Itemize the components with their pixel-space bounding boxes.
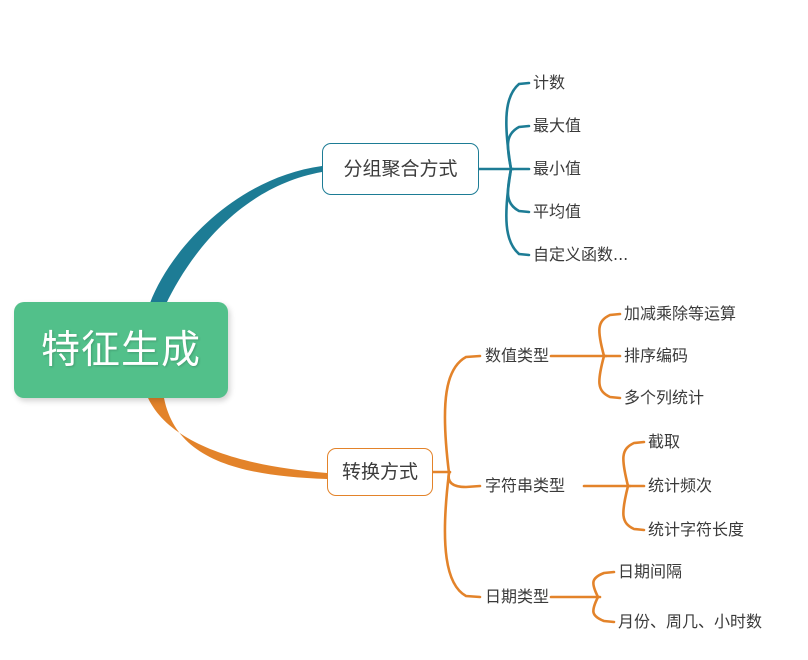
mindmap-nodes: 特征生成 分组聚合方式 转换方式 计数 最大值 最小值 平均值 自定义函数...… [0, 0, 808, 660]
branch-node-grouping[interactable]: 分组聚合方式 [322, 143, 479, 195]
leaf-custom-func[interactable]: 自定义函数... [533, 247, 628, 263]
branch-node-grouping-label: 分组聚合方式 [343, 160, 457, 179]
leaf-date-interval[interactable]: 日期间隔 [618, 564, 682, 580]
leaf-count[interactable]: 计数 [533, 75, 565, 91]
mindmap-canvas: 特征生成 分组聚合方式 转换方式 计数 最大值 最小值 平均值 自定义函数...… [0, 0, 808, 660]
leaf-ordinal-encoding[interactable]: 排序编码 [624, 348, 688, 364]
branch-node-transform[interactable]: 转换方式 [327, 448, 433, 496]
branch-node-transform-label: 转换方式 [342, 463, 418, 482]
leaf-max[interactable]: 最大值 [533, 118, 581, 134]
leaf-substring[interactable]: 截取 [648, 434, 680, 450]
leaf-freq-count[interactable]: 统计频次 [648, 478, 712, 494]
group-date[interactable]: 日期类型 [485, 589, 549, 605]
leaf-mean[interactable]: 平均值 [533, 204, 581, 220]
group-string[interactable]: 字符串类型 [485, 478, 565, 494]
root-node[interactable]: 特征生成 [14, 302, 228, 398]
leaf-arithmetic[interactable]: 加减乘除等运算 [624, 306, 736, 322]
group-numeric[interactable]: 数值类型 [485, 348, 549, 364]
leaf-multi-col-stats[interactable]: 多个列统计 [624, 390, 704, 406]
leaf-min[interactable]: 最小值 [533, 161, 581, 177]
leaf-month-weekday-hour[interactable]: 月份、周几、小时数 [618, 614, 762, 630]
leaf-char-length[interactable]: 统计字符长度 [648, 522, 744, 538]
root-node-label: 特征生成 [41, 331, 201, 370]
